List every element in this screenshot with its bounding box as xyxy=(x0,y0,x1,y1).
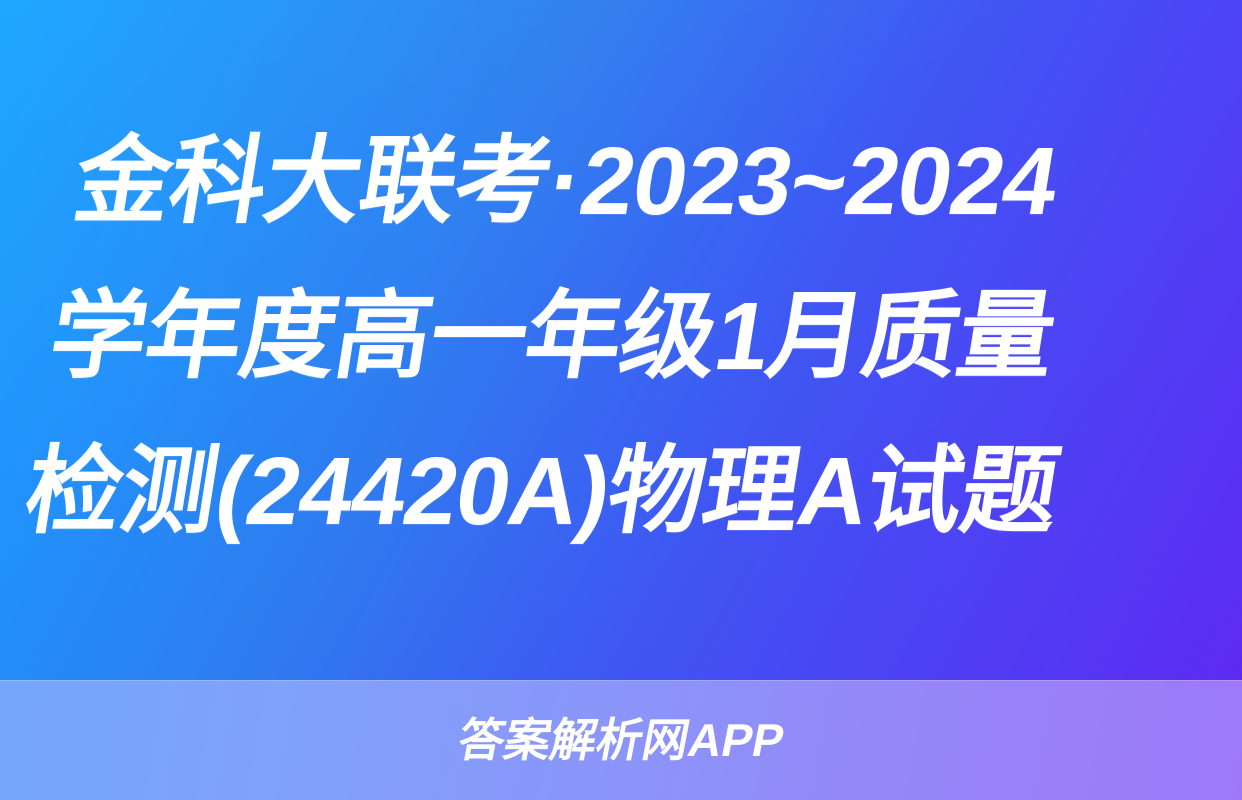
watermark-band: 答案解析网APP xyxy=(0,680,1242,800)
exam-cover-card: 金科大联考·2023~2024学年度高一年级1月质量检测(24420A)物理A试… xyxy=(0,0,1242,800)
app-watermark-label: 答案解析网APP xyxy=(454,717,788,763)
page-title: 金科大联考·2023~2024学年度高一年级1月质量检测(24420A)物理A试… xyxy=(14,104,1160,569)
title-block: 金科大联考·2023~2024学年度高一年级1月质量检测(24420A)物理A试… xyxy=(88,104,1160,569)
